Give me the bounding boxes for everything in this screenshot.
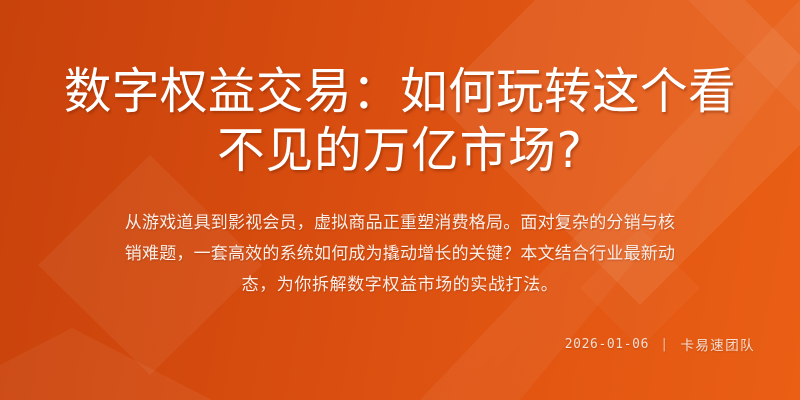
page-title: 数字权益交易：如何玩转这个看 不见的万亿市场?: [36, 62, 764, 180]
publish-date: 2026-01-06: [565, 337, 649, 352]
summary-text: 从游戏道具到影视会员，虚拟商品正重塑消费格局。面对复杂的分销与核 销难题，一套高…: [78, 208, 722, 301]
summary-line-1: 从游戏道具到影视会员，虚拟商品正重塑消费格局。面对复杂的分销与核: [78, 208, 722, 239]
summary-line-2: 销难题，一套高效的系统如何成为撬动增长的关键？本文结合行业最新动: [78, 239, 722, 270]
poster-banner: 数字权益交易：如何玩转这个看 不见的万亿市场? 从游戏道具到影视会员，虚拟商品正…: [0, 0, 800, 400]
title-line-1: 数字权益交易：如何玩转这个看: [47, 62, 753, 121]
footer-meta: 2026-01-06 | 卡易速团队: [565, 334, 755, 354]
poster-content: 数字权益交易：如何玩转这个看 不见的万亿市场? 从游戏道具到影视会员，虚拟商品正…: [0, 0, 800, 400]
summary-line-3: 态，为你拆解数字权益市场的实战打法。: [78, 270, 722, 301]
author-team: 卡易速团队: [681, 334, 756, 354]
title-line-2: 不见的万亿市场?: [47, 121, 753, 180]
footer-separator: |: [660, 337, 669, 352]
